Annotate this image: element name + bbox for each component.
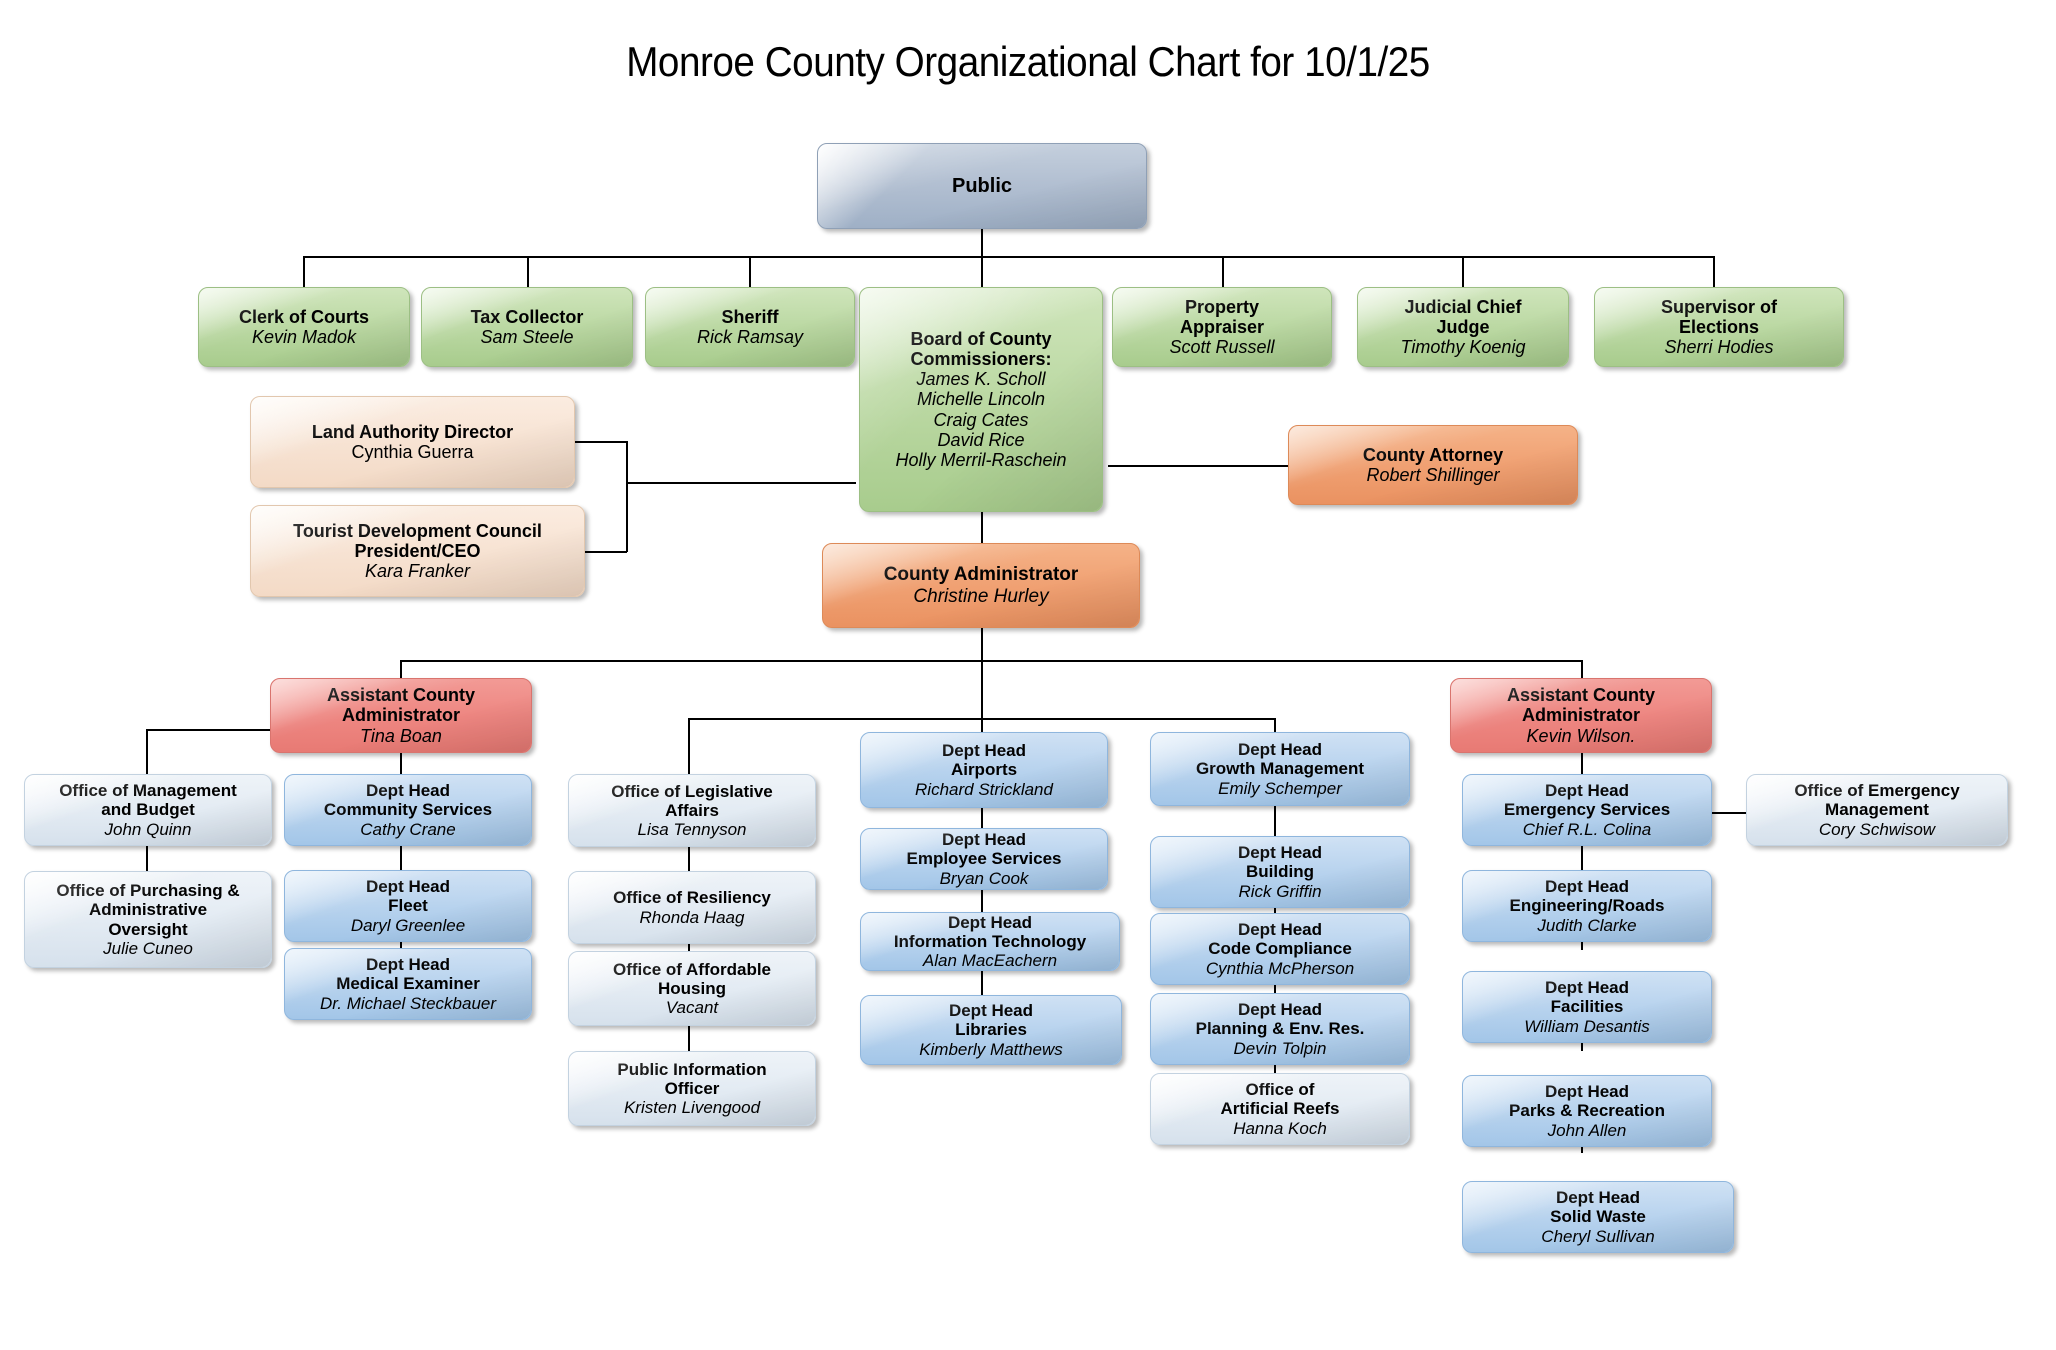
node-dept-head-parks-recreation[interactable]: Dept Head Parks & Recreation John Allen	[1462, 1075, 1712, 1147]
node-dept-head-community-services[interactable]: Dept Head Community Services Cathy Crane	[284, 774, 532, 846]
node-code-name: Cynthia McPherson	[1157, 959, 1403, 978]
node-office-of-artificial-reefs[interactable]: Office of Artificial Reefs Hanna Koch	[1150, 1073, 1410, 1145]
node-medexam-title-line2: Medical Examiner	[291, 974, 525, 993]
connector-landauth-right	[575, 441, 627, 443]
page-title: Monroe County Organizational Chart for 1…	[82, 38, 1974, 86]
node-dept-head-engineering-roads[interactable]: Dept Head Engineering/Roads Judith Clark…	[1462, 870, 1712, 942]
connector-left-bracket	[626, 441, 628, 552]
node-empserv-name: Bryan Cook	[867, 869, 1101, 888]
node-solidwaste-title-line2: Solid Waste	[1469, 1207, 1727, 1226]
node-reefs-name: Hanna Koch	[1157, 1119, 1403, 1138]
connector-legaffairs-resiliency	[688, 847, 690, 871]
node-dept-head-solid-waste[interactable]: Dept Head Solid Waste Cheryl Sullivan	[1462, 1181, 1734, 1253]
node-bocc-member-2: Michelle Lincoln	[866, 389, 1096, 409]
connector-admin-down	[981, 628, 983, 718]
node-aca-boan-title-line2: Administrator	[277, 705, 525, 725]
connector-admin-bus	[400, 660, 1581, 662]
node-land-authority-director[interactable]: Land Authority Director Cynthia Guerra	[250, 396, 575, 488]
node-purchasing-title-line3: Oversight	[31, 920, 265, 939]
node-it-title-line1: Dept Head	[867, 913, 1113, 932]
node-planning-name: Devin Tolpin	[1157, 1039, 1403, 1058]
connector-drop-growth	[1274, 718, 1276, 732]
node-clerk-name: Kevin Madok	[205, 327, 403, 347]
node-attorney-name: Robert Shillinger	[1295, 465, 1571, 485]
node-aca-wilson-title-line1: Assistant County	[1457, 685, 1705, 705]
node-planning-title-line2: Planning & Env. Res.	[1157, 1019, 1403, 1038]
node-aca-wilson-title-line2: Administrator	[1457, 705, 1705, 725]
node-assistant-county-administrator-wilson[interactable]: Assistant County Administrator Kevin Wil…	[1450, 678, 1712, 753]
node-public-information-officer[interactable]: Public Information Officer Kristen Liven…	[568, 1051, 816, 1126]
connector-affhousing-pio	[688, 1026, 690, 1051]
connector-drop-bocc	[981, 256, 983, 287]
node-growth-title-line1: Dept Head	[1157, 740, 1403, 759]
node-commserv-name: Cathy Crane	[291, 820, 525, 839]
node-facilities-title-line2: Facilities	[1469, 997, 1705, 1016]
node-reefs-title-line2: Artificial Reefs	[1157, 1099, 1403, 1118]
node-bocc-member-4: David Rice	[866, 430, 1096, 450]
node-office-of-purchasing[interactable]: Office of Purchasing & Administrative Ov…	[24, 871, 272, 968]
node-tourist-development-council[interactable]: Tourist Development Council President/CE…	[250, 505, 585, 597]
connector-emergserv-oem	[1712, 812, 1746, 814]
connector-emergserv-engroads	[1581, 846, 1583, 870]
node-airports-name: Richard Strickland	[867, 780, 1101, 799]
node-dept-head-airports[interactable]: Dept Head Airports Richard Strickland	[860, 732, 1108, 808]
node-appraiser-name: Scott Russell	[1119, 337, 1325, 357]
node-affhousing-name: Vacant	[575, 998, 809, 1017]
node-aca-boan-name: Tina Boan	[277, 726, 525, 746]
node-empserv-title-line1: Dept Head	[867, 830, 1101, 849]
node-emergserv-name: Chief R.L. Colina	[1469, 820, 1705, 839]
node-appraiser-title-line2: Appraiser	[1119, 317, 1325, 337]
node-legaffairs-name: Lisa Tennyson	[575, 820, 809, 839]
node-fleet-title-line2: Fleet	[291, 896, 525, 915]
node-bocc-member-1: James K. Scholl	[866, 369, 1096, 389]
node-engroads-title-line2: Engineering/Roads	[1469, 896, 1705, 915]
connector-drop-legaffairs	[688, 718, 690, 774]
node-dept-head-facilities[interactable]: Dept Head Facilities William Desantis	[1462, 971, 1712, 1043]
node-clerk-of-courts[interactable]: Clerk of Courts Kevin Madok	[198, 287, 410, 367]
node-empserv-title-line2: Employee Services	[867, 849, 1101, 868]
node-elections-name: Sherri Hodies	[1601, 337, 1837, 357]
node-legaffairs-title-line1: Office of Legislative	[575, 782, 809, 801]
node-libraries-title-line1: Dept Head	[867, 1001, 1115, 1020]
node-tax-title: Tax Collector	[428, 307, 626, 327]
node-code-title-line2: Code Compliance	[1157, 939, 1403, 958]
node-attorney-title: County Attorney	[1295, 445, 1571, 465]
node-tdc-name: Kara Franker	[257, 561, 578, 581]
node-dept-head-code-compliance[interactable]: Dept Head Code Compliance Cynthia McPher…	[1150, 913, 1410, 985]
connector-bocc-to-admin	[981, 512, 983, 543]
node-building-title-line2: Building	[1157, 862, 1403, 881]
node-growth-title-line2: Growth Management	[1157, 759, 1403, 778]
node-elections-title-line2: Elections	[1601, 317, 1837, 337]
node-building-name: Rick Griffin	[1157, 882, 1403, 901]
node-public[interactable]: Public	[817, 143, 1147, 229]
node-emergserv-title-line1: Dept Head	[1469, 781, 1705, 800]
node-aca-wilson-name: Kevin Wilson.	[1457, 726, 1705, 746]
node-dept-head-growth-management[interactable]: Dept Head Growth Management Emily Schemp…	[1150, 732, 1410, 806]
node-office-of-emergency-management[interactable]: Office of Emergency Management Cory Schw…	[1746, 774, 2008, 846]
node-bocc-member-3: Craig Cates	[866, 410, 1096, 430]
node-dept-head-planning-env-res[interactable]: Dept Head Planning & Env. Res. Devin Tol…	[1150, 993, 1410, 1065]
node-office-of-legislative-affairs[interactable]: Office of Legislative Affairs Lisa Tenny…	[568, 774, 816, 847]
node-sheriff-title: Sheriff	[652, 307, 848, 327]
node-fleet-title-line1: Dept Head	[291, 877, 525, 896]
node-sheriff[interactable]: Sheriff Rick Ramsay	[645, 287, 855, 367]
node-it-name: Alan MacEachern	[867, 951, 1113, 970]
connector-tdc-right	[585, 551, 627, 553]
connector-drop-airports	[981, 718, 983, 732]
node-public-title: Public	[824, 175, 1140, 197]
connector-drop-appraiser	[1222, 256, 1224, 287]
node-office-of-management-and-budget[interactable]: Office of Management and Budget John Qui…	[24, 774, 272, 846]
node-purchasing-title-line1: Office of Purchasing &	[31, 881, 265, 900]
node-bocc-title-line1: Board of County	[866, 329, 1096, 349]
node-judicial-chief-judge[interactable]: Judicial Chief Judge Timothy Koenig	[1357, 287, 1569, 367]
connector-boan-left-drop	[146, 729, 148, 774]
node-affhousing-title-line2: Housing	[575, 979, 809, 998]
node-medexam-title-line1: Dept Head	[291, 955, 525, 974]
node-purchasing-title-line2: Administrative	[31, 900, 265, 919]
node-legaffairs-title-line2: Affairs	[575, 801, 809, 820]
node-dept-head-libraries[interactable]: Dept Head Libraries Kimberly Matthews	[860, 995, 1122, 1065]
node-appraiser-title-line1: Property	[1119, 297, 1325, 317]
node-planning-title-line1: Dept Head	[1157, 1000, 1403, 1019]
node-office-of-resiliency[interactable]: Office of Resiliency Rhonda Haag	[568, 871, 816, 944]
node-assistant-county-administrator-boan[interactable]: Assistant County Administrator Tina Boan	[270, 678, 532, 753]
node-tdc-title-line1: Tourist Development Council	[257, 521, 578, 541]
node-bocc-member-5: Holly Merril-Raschein	[866, 450, 1096, 470]
connector-bocc-to-attorney	[1108, 465, 1288, 467]
node-property-appraiser[interactable]: Property Appraiser Scott Russell	[1112, 287, 1332, 367]
node-omb-title-line2: and Budget	[31, 800, 265, 819]
node-libraries-name: Kimberly Matthews	[867, 1040, 1115, 1059]
node-board-of-county-commissioners[interactable]: Board of County Commissioners: James K. …	[859, 287, 1103, 512]
connector-drop-judge	[1462, 256, 1464, 287]
connector-drop-clerk	[303, 256, 305, 287]
node-building-title-line1: Dept Head	[1157, 843, 1403, 862]
node-parks-title-line2: Parks & Recreation	[1469, 1101, 1705, 1120]
node-countyadmin-name: Christine Hurley	[829, 586, 1133, 607]
connector-boan-down	[400, 753, 402, 775]
node-pio-name: Kristen Livengood	[575, 1098, 809, 1117]
node-pio-title-line1: Public Information	[575, 1060, 809, 1079]
connector-drop-tax	[527, 256, 529, 287]
node-tdc-title-line2: President/CEO	[257, 541, 578, 561]
node-medexam-name: Dr. Michael Steckbauer	[291, 994, 525, 1013]
node-facilities-title-line1: Dept Head	[1469, 978, 1705, 997]
node-countyadmin-title: County Administrator	[829, 564, 1133, 585]
node-parks-title-line1: Dept Head	[1469, 1082, 1705, 1101]
connector-bracket-to-bocc	[626, 482, 856, 484]
connector-drop-elections	[1713, 256, 1715, 287]
connector-empserv-it	[981, 890, 983, 912]
node-fleet-name: Daryl Greenlee	[291, 916, 525, 935]
node-county-administrator[interactable]: County Administrator Christine Hurley	[822, 543, 1140, 628]
node-dept-head-fleet[interactable]: Dept Head Fleet Daryl Greenlee	[284, 870, 532, 942]
node-dept-head-emergency-services[interactable]: Dept Head Emergency Services Chief R.L. …	[1462, 774, 1712, 846]
node-reefs-title-line1: Office of	[1157, 1080, 1403, 1099]
node-tax-name: Sam Steele	[428, 327, 626, 347]
connector-it-libraries	[981, 971, 983, 995]
connector-admin-offices-bus	[688, 718, 981, 720]
connector-wilson-down	[1581, 753, 1583, 775]
node-clerk-title: Clerk of Courts	[205, 307, 403, 327]
node-emergserv-title-line2: Emergency Services	[1469, 800, 1705, 819]
node-facilities-name: William Desantis	[1469, 1017, 1705, 1036]
node-airports-title-line2: Airports	[867, 760, 1101, 779]
node-oem-title-line1: Office of Emergency	[1753, 781, 2001, 800]
node-pio-title-line2: Officer	[575, 1079, 809, 1098]
connector-drop-sheriff	[749, 256, 751, 287]
node-judge-name: Timothy Koenig	[1364, 337, 1562, 357]
node-code-title-line1: Dept Head	[1157, 920, 1403, 939]
connector-airports-empserv	[981, 808, 983, 828]
connector-growth-building	[1274, 806, 1276, 836]
node-commserv-title-line2: Community Services	[291, 800, 525, 819]
node-oem-name: Cory Schwisow	[1753, 820, 2001, 839]
node-parks-name: John Allen	[1469, 1121, 1705, 1140]
node-bocc-title-line2: Commissioners:	[866, 349, 1096, 369]
connector-drop-aca-boan	[400, 660, 402, 678]
node-affhousing-title-line1: Office of Affordable	[575, 960, 809, 979]
node-airports-title-line1: Dept Head	[867, 741, 1101, 760]
node-landauth-title: Land Authority Director	[257, 422, 568, 442]
node-solidwaste-title-line1: Dept Head	[1469, 1188, 1727, 1207]
node-judge-title-line2: Judge	[1364, 317, 1562, 337]
node-dept-head-building[interactable]: Dept Head Building Rick Griffin	[1150, 836, 1410, 908]
node-resiliency-title: Office of Resiliency	[575, 888, 809, 907]
connector-admin-to-growth	[981, 718, 1274, 720]
node-solidwaste-name: Cheryl Sullivan	[1469, 1227, 1727, 1246]
org-chart-canvas: Monroe County Organizational Chart for 1…	[0, 0, 2056, 1350]
node-omb-name: John Quinn	[31, 820, 265, 839]
node-purchasing-name: Julie Cuneo	[31, 939, 265, 958]
connector-elected-bus	[303, 256, 1713, 258]
node-it-title-line2: Information Technology	[867, 932, 1113, 951]
node-dept-head-information-technology[interactable]: Dept Head Information Technology Alan Ma…	[860, 912, 1120, 971]
node-office-of-affordable-housing[interactable]: Office of Affordable Housing Vacant	[568, 951, 816, 1026]
node-sheriff-name: Rick Ramsay	[652, 327, 848, 347]
connector-omb-purchasing	[146, 846, 148, 871]
connector-drop-aca-wilson	[1581, 660, 1583, 678]
node-county-attorney[interactable]: County Attorney Robert Shillinger	[1288, 425, 1578, 505]
node-tax-collector[interactable]: Tax Collector Sam Steele	[421, 287, 633, 367]
node-omb-title-line1: Office of Management	[31, 781, 265, 800]
node-resiliency-name: Rhonda Haag	[575, 908, 809, 927]
node-aca-boan-title-line1: Assistant County	[277, 685, 525, 705]
node-dept-head-employee-services[interactable]: Dept Head Employee Services Bryan Cook	[860, 828, 1108, 890]
node-landauth-name: Cynthia Guerra	[257, 442, 568, 462]
node-engroads-name: Judith Clarke	[1469, 916, 1705, 935]
node-elections-title-line1: Supervisor of	[1601, 297, 1837, 317]
node-judge-title-line1: Judicial Chief	[1364, 297, 1562, 317]
node-growth-name: Emily Schemper	[1157, 779, 1403, 798]
node-engroads-title-line1: Dept Head	[1469, 877, 1705, 896]
node-commserv-title-line1: Dept Head	[291, 781, 525, 800]
node-supervisor-of-elections[interactable]: Supervisor of Elections Sherri Hodies	[1594, 287, 1844, 367]
node-oem-title-line2: Management	[1753, 800, 2001, 819]
node-libraries-title-line2: Libraries	[867, 1020, 1115, 1039]
connector-public-down	[981, 228, 983, 256]
node-dept-head-medical-examiner[interactable]: Dept Head Medical Examiner Dr. Michael S…	[284, 948, 532, 1020]
connector-commserv-fleet	[400, 846, 402, 870]
